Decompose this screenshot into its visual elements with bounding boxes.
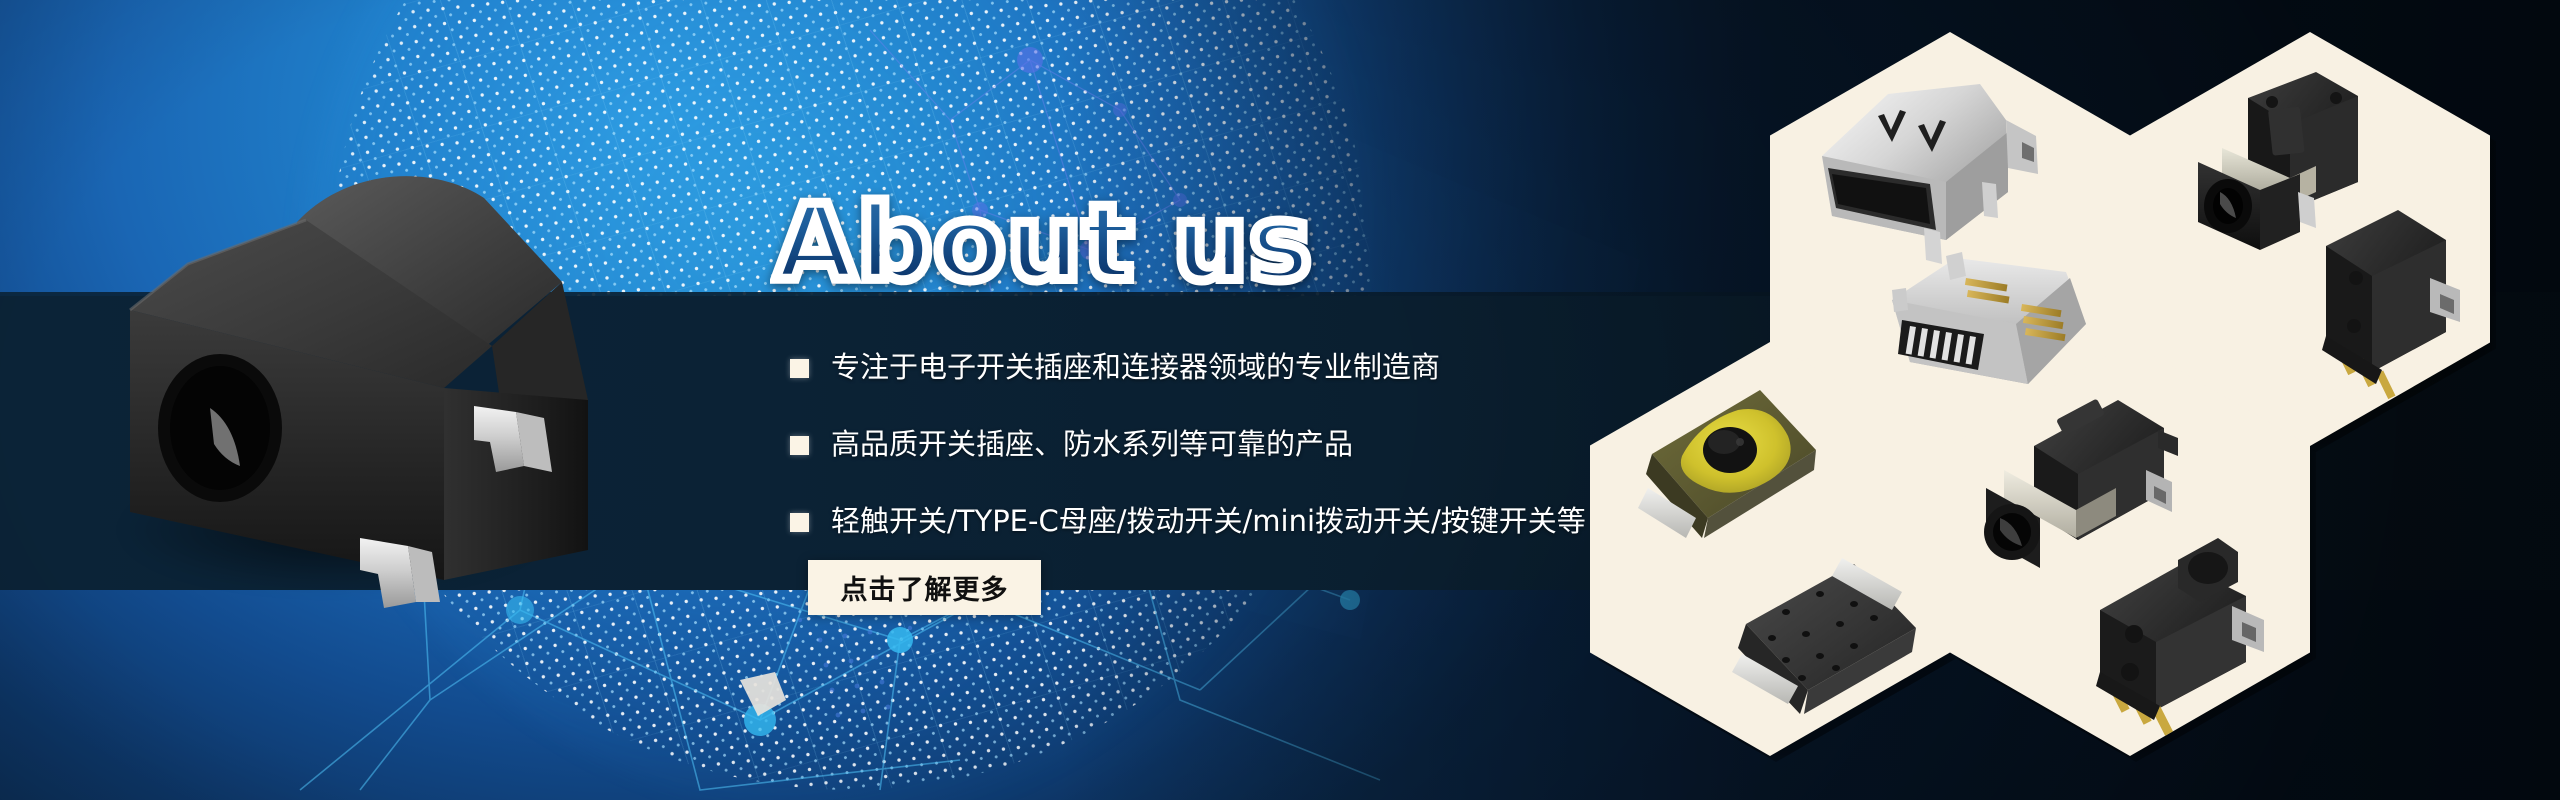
page-title: About us [775, 182, 1313, 304]
list-item-label: 轻触开关/TYPE-C母座/拨动开关/mini拨动开关/按键开关等 [831, 506, 1586, 538]
square-bullet-icon [790, 436, 809, 455]
learn-more-button[interactable]: 点击了解更多 [808, 560, 1041, 615]
page-title-text: About us [775, 182, 1313, 304]
learn-more-button-label: 点击了解更多 [841, 568, 1009, 607]
about-us-banner: About us 专注于电子开关插座和连接器领域的专业制造商 高品质开关插座、防… [0, 0, 2560, 800]
square-bullet-icon [790, 359, 809, 378]
hero-product-dc-power-jack [92, 150, 652, 620]
square-bullet-icon [790, 513, 809, 532]
product-hexagon-gallery [1540, 0, 2560, 800]
list-item-label: 专注于电子开关插座和连接器领域的专业制造商 [831, 352, 1440, 384]
list-item-label: 高品质开关插座、防水系列等可靠的产品 [831, 429, 1353, 461]
